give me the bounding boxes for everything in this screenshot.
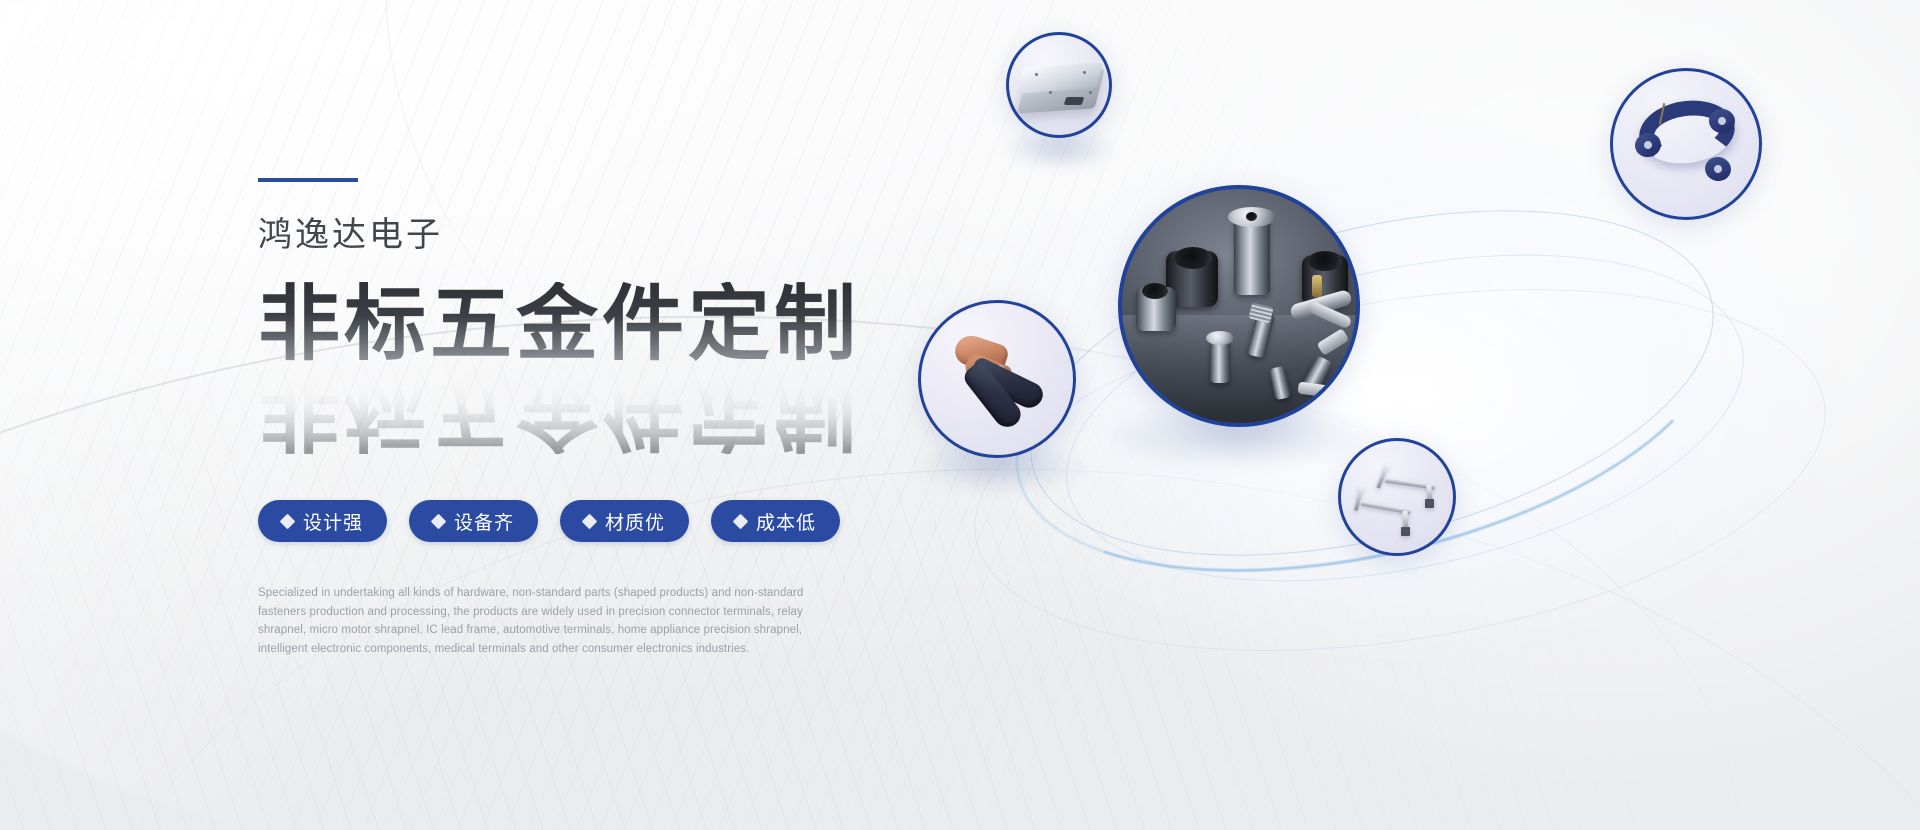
accent-rule bbox=[258, 178, 358, 182]
box-screw bbox=[1083, 71, 1086, 74]
ring-lug-eye bbox=[1713, 164, 1722, 173]
ring-lug bbox=[1703, 155, 1733, 183]
hero-banner: 鸿逸达电子 非标五金件定制 非标五金件定制 设计强 设备齐 材质优 成本低 bbox=[0, 0, 1920, 830]
fitting-pin-cap bbox=[1206, 331, 1234, 345]
fitting-cylinder-tall bbox=[1234, 217, 1270, 295]
fitting-flange-bore bbox=[1142, 283, 1168, 299]
hero-content: 鸿逸达电子 非标五金件定制 非标五金件定制 设计强 设备齐 材质优 成本低 bbox=[258, 178, 958, 659]
diamond-icon bbox=[431, 513, 447, 529]
fitting-bore bbox=[1246, 212, 1257, 221]
brand-name: 鸿逸达电子 bbox=[258, 218, 958, 252]
alligator-clip-photo[interactable] bbox=[918, 300, 1076, 458]
diamond-icon bbox=[280, 513, 296, 529]
retaining-ring-photo[interactable] bbox=[1610, 68, 1762, 220]
fitting-black-bore-2 bbox=[1308, 251, 1342, 271]
diamond-icon bbox=[733, 513, 749, 529]
box-port bbox=[1064, 97, 1085, 105]
fitting-pin-small bbox=[1210, 339, 1230, 383]
pin-segment bbox=[1376, 463, 1389, 489]
page-title: 非标五金件定制 bbox=[258, 282, 958, 368]
box-screw bbox=[1049, 91, 1052, 94]
feature-tag-list: 设计强 设备齐 材质优 成本低 bbox=[258, 500, 958, 542]
bent-metal-pins-photo[interactable] bbox=[1338, 438, 1456, 556]
pin-tip bbox=[1401, 527, 1410, 536]
feature-tag-cost[interactable]: 成本低 bbox=[711, 500, 840, 542]
pin-tip bbox=[1425, 499, 1434, 508]
headline-reflection: 非标五金件定制 bbox=[258, 368, 860, 454]
feature-tag-design[interactable]: 设计强 bbox=[258, 500, 387, 542]
feature-tag-label: 成本低 bbox=[756, 508, 816, 535]
sheet-metal-box-photo[interactable] bbox=[1006, 32, 1112, 138]
ring-lug-eye bbox=[1643, 140, 1653, 150]
headline-block: 非标五金件定制 非标五金件定制 bbox=[258, 282, 958, 432]
feature-tag-material[interactable]: 材质优 bbox=[560, 500, 689, 542]
diamond-icon bbox=[582, 513, 598, 529]
feature-tag-label: 材质优 bbox=[605, 508, 665, 535]
product-visual bbox=[910, 0, 1920, 830]
company-description: Specialized in undertaking all kinds of … bbox=[258, 584, 818, 659]
box-screw bbox=[1089, 91, 1092, 94]
feature-tag-equipment[interactable]: 设备齐 bbox=[409, 500, 538, 542]
ring-lug-eye bbox=[1718, 117, 1727, 126]
metal-fittings-photo[interactable] bbox=[1118, 185, 1360, 427]
pin-segment bbox=[1354, 485, 1364, 511]
feature-tag-label: 设计强 bbox=[303, 508, 363, 535]
box-screw bbox=[1035, 73, 1038, 76]
fitting-brass-stud bbox=[1312, 275, 1322, 297]
fitting-black-bore bbox=[1174, 247, 1212, 269]
feature-tag-label: 设备齐 bbox=[454, 508, 514, 535]
